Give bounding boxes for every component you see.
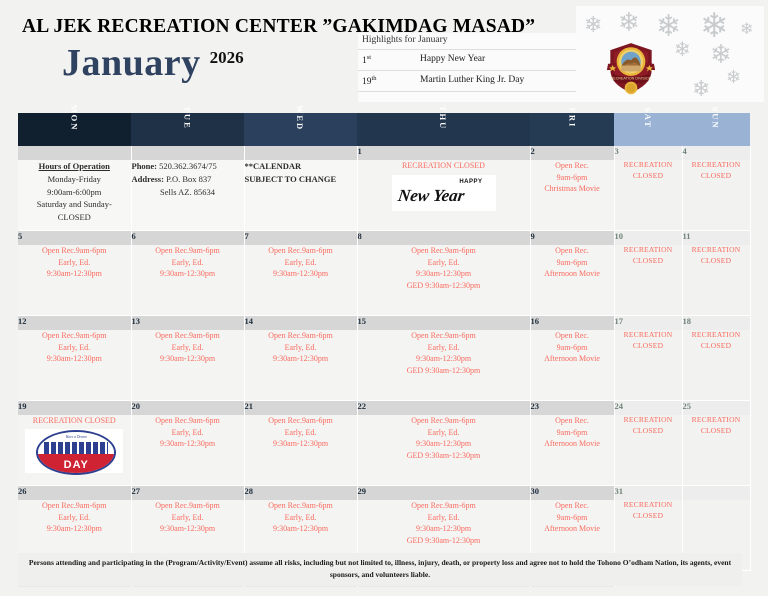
event-line: Open Rec. [531, 415, 614, 427]
highlight-row-empty [358, 91, 576, 102]
event-line: CLOSED [683, 341, 750, 352]
snowflake-icon: ❄ [692, 78, 710, 100]
date-number-9: 9 [530, 231, 614, 246]
day-cell-1[interactable]: RECREATION CLOSEDNew YearHAPPY [357, 160, 530, 231]
snowflake-icon: ❄ [710, 42, 732, 68]
day-cell-16[interactable]: Open Rec.9am-6pmAfternoon Movie [530, 330, 614, 401]
day-header-tue: TUE [131, 113, 244, 146]
highlight-label: Happy New Year [420, 54, 572, 66]
day-header-mon: MON [18, 113, 131, 146]
date-number-11: 11 [682, 231, 750, 246]
event-line: Open Rec.9am-6pm [245, 330, 357, 342]
day-cell-18[interactable]: RECREATIONCLOSED [682, 330, 750, 401]
event-line: Early, Ed. [245, 427, 357, 439]
event-line: GED 9:30am-12:30pm [358, 280, 530, 292]
mlk-top: Have a Dream [38, 432, 114, 452]
address-line: Address: P.O. Box 837 [132, 173, 244, 186]
highlight-date: 1st [362, 54, 420, 66]
highlight-day-number: 19 [362, 77, 372, 87]
event-line: 9:30am-12:30pm [245, 438, 357, 450]
event-line: CLOSED [683, 171, 750, 182]
event-line: Open Rec.9am-6pm [132, 415, 244, 427]
date-number-empty [131, 146, 244, 160]
recreation-division-crest-icon: RECREATION DIVISION [602, 34, 660, 96]
event-line: Open Rec.9am-6pm [18, 330, 131, 342]
event-line: GED 9:30am-12:30pm [358, 450, 530, 462]
date-number-24: 24 [614, 401, 682, 416]
event-line: 9am-6pm [531, 512, 614, 524]
event-line: Open Rec. [531, 330, 614, 342]
event-line: 9:30am-12:30pm [358, 523, 530, 535]
event-line: 9:30am-12:30pm [132, 268, 244, 280]
event-line: Afternoon Movie [531, 523, 614, 535]
date-number-28: 28 [244, 486, 357, 501]
hours-line: CLOSED [18, 211, 131, 224]
day-header-sat: SAT [614, 113, 682, 146]
calendar-date-row: 567891011 [18, 231, 750, 246]
phone-value: 520.362.3674/75 [157, 161, 217, 171]
date-number-25: 25 [682, 401, 750, 416]
info-cell-notice: **CALENDARSUBJECT TO CHANGE [244, 160, 357, 231]
day-cell-17[interactable]: RECREATIONCLOSED [614, 330, 682, 401]
event-line: Open Rec.9am-6pm [132, 500, 244, 512]
mlk-day-text: DAY [38, 460, 114, 471]
phone-line: Phone: 520.362.3674/75 [132, 160, 244, 173]
mlk-oval: Have a DreamDAY [36, 430, 116, 475]
event-line: Open Rec.9am-6pm [358, 245, 530, 257]
date-number-31: 31 [614, 486, 682, 501]
date-number-26: 26 [18, 486, 131, 501]
date-number-29: 29 [357, 486, 530, 501]
day-cell-12[interactable]: Open Rec.9am-6pmEarly, Ed.9:30am-12:30pm [18, 330, 131, 401]
day-cell-10[interactable]: RECREATIONCLOSED [614, 245, 682, 316]
event-line: 9:30am-12:30pm [132, 523, 244, 535]
snowflake-icon: ❄ [700, 10, 729, 44]
date-number-1: 1 [357, 146, 530, 160]
calendar-date-row: 12131415161718 [18, 316, 750, 331]
event-line: 9am-6pm [531, 257, 614, 269]
new-year-main-text: New Year [396, 184, 466, 209]
date-number-15: 15 [357, 316, 530, 331]
highlights-title: Highlights for January [358, 33, 576, 49]
month-heading: January 2026 [62, 44, 244, 82]
date-number-18: 18 [682, 316, 750, 331]
event-line: Open Rec.9am-6pm [18, 245, 131, 257]
event-line: Early, Ed. [245, 342, 357, 354]
hours-title: Hours of Operation [18, 160, 131, 173]
event-line: 9:30am-12:30pm [245, 268, 357, 280]
date-number-7: 7 [244, 231, 357, 246]
event-line: 9:30am-12:30pm [358, 268, 530, 280]
date-number-8: 8 [357, 231, 530, 246]
event-line: CLOSED [683, 426, 750, 437]
event-line: 9:30am-12:30pm [358, 438, 530, 450]
event-line: RECREATION [615, 500, 682, 511]
mlk-small-text: Have a Dream [38, 435, 114, 440]
calendar-date-row: 19202122232425 [18, 401, 750, 416]
highlight-row: 19th Martin Luther King Jr. Day [358, 70, 576, 91]
day-cell-5[interactable]: Open Rec.9am-6pmEarly, Ed.9:30am-12:30pm [18, 245, 131, 316]
calendar-page: AL JEK RECREATION CENTER ”GAKIMDAG MASAD… [0, 0, 768, 596]
snowflake-icon: ❄ [740, 22, 753, 38]
day-header-fri: FRI [530, 113, 614, 146]
day-cell-4[interactable]: RECREATIONCLOSED [682, 160, 750, 231]
event-line: Open Rec.9am-6pm [18, 500, 131, 512]
phone-label: Phone: [132, 161, 158, 171]
day-cell-3[interactable]: RECREATIONCLOSED [614, 160, 682, 231]
date-number-13: 13 [131, 316, 244, 331]
event-line: RECREATION [683, 160, 750, 171]
event-line: Open Rec. [531, 245, 614, 257]
event-line: 9:30am-12:30pm [245, 523, 357, 535]
event-line: Early, Ed. [132, 427, 244, 439]
event-line: RECREATION [615, 415, 682, 426]
event-line: 9am-6pm [531, 342, 614, 354]
address-value: P.O. Box 837 [164, 174, 211, 184]
calendar-week-row: Open Rec.9am-6pmEarly, Ed.9:30am-12:30pm… [18, 245, 750, 316]
event-line: 9:30am-12:30pm [358, 353, 530, 365]
day-header-thu-label: THU [438, 106, 448, 130]
day-header-fri-label: FRI [567, 108, 577, 129]
date-number-empty [682, 486, 750, 501]
date-number-empty [244, 146, 357, 160]
address-line2: Sells AZ. 85634 [132, 186, 244, 199]
address-label: Address: [132, 174, 164, 184]
event-line: RECREATION [615, 330, 682, 341]
day-cell-7[interactable]: Open Rec.9am-6pmEarly, Ed.9:30am-12:30pm [244, 245, 357, 316]
event-line: Open Rec.9am-6pm [132, 330, 244, 342]
event-line: Open Rec.9am-6pm [358, 415, 530, 427]
date-number-20: 20 [131, 401, 244, 416]
date-number-17: 17 [614, 316, 682, 331]
day-header-thu: THU [357, 113, 530, 146]
event-line: RECREATION [683, 415, 750, 426]
date-number-23: 23 [530, 401, 614, 416]
day-cell-19[interactable]: RECREATION CLOSEDHave a DreamDAY [18, 415, 131, 486]
info-cell-hours: Hours of OperationMonday-Friday9:00am-6:… [18, 160, 131, 231]
event-line: 9am-6pm [531, 172, 614, 184]
event-line: RECREATION CLOSED [18, 415, 131, 427]
date-number-12: 12 [18, 316, 131, 331]
event-line: Christmas Movie [531, 183, 614, 195]
event-line: 9:30am-12:30pm [245, 353, 357, 365]
date-number-30: 30 [530, 486, 614, 501]
day-cell-8[interactable]: Open Rec.9am-6pmEarly, Ed.9:30am-12:30pm… [357, 245, 530, 316]
day-header-wed-label: WED [296, 105, 306, 131]
hours-line: 9:00am-6:00pm [18, 186, 131, 199]
event-line: RECREATION [683, 245, 750, 256]
day-cell-15[interactable]: Open Rec.9am-6pmEarly, Ed.9:30am-12:30pm… [357, 330, 530, 401]
new-year-happy-text: HAPPY [459, 178, 482, 187]
event-line: Open Rec.9am-6pm [245, 415, 357, 427]
day-cell-6[interactable]: Open Rec.9am-6pmEarly, Ed.9:30am-12:30pm [131, 245, 244, 316]
calendar-date-row: 262728293031 [18, 486, 750, 501]
mlk-day-image: Have a DreamDAY [25, 429, 123, 473]
day-header-tue-label: TUE [182, 106, 192, 129]
highlight-day-suffix: st [367, 54, 371, 61]
event-line: 9:30am-12:30pm [18, 353, 131, 365]
date-number-10: 10 [614, 231, 682, 246]
date-number-5: 5 [18, 231, 131, 246]
day-cell-14[interactable]: Open Rec.9am-6pmEarly, Ed.9:30am-12:30pm [244, 330, 357, 401]
date-number-6: 6 [131, 231, 244, 246]
calendar-grid: MON TUE WED THU FRI SAT SUN 1234Hours of… [18, 113, 751, 587]
event-line: Early, Ed. [18, 257, 131, 269]
event-line: Early, Ed. [245, 257, 357, 269]
event-line: Open Rec. [531, 160, 614, 172]
day-of-week-header-row: MON TUE WED THU FRI SAT SUN [18, 113, 750, 146]
mlk-stripes [44, 442, 108, 454]
highlight-label: Martin Luther King Jr. Day [420, 75, 572, 87]
day-cell-2[interactable]: Open Rec.9am-6pmChristmas Movie [530, 160, 614, 231]
day-cell-13[interactable]: Open Rec.9am-6pmEarly, Ed.9:30am-12:30pm [131, 330, 244, 401]
snowflake-icon: ❄ [726, 68, 741, 86]
event-line: RECREATION [683, 330, 750, 341]
info-cell-contact: Phone: 520.362.3674/75Address: P.O. Box … [131, 160, 244, 231]
event-line: Early, Ed. [132, 342, 244, 354]
day-header-sat-label: SAT [643, 107, 653, 129]
snowflake-icon: ❄ [674, 40, 691, 60]
event-line: CLOSED [615, 426, 682, 437]
snowflake-icon: ❄ [584, 14, 602, 36]
event-line: CLOSED [683, 256, 750, 267]
day-cell-20[interactable]: Open Rec.9am-6pmEarly, Ed.9:30am-12:30pm [131, 415, 244, 486]
month-name: January [62, 44, 201, 82]
event-line: Open Rec. [531, 500, 614, 512]
event-line: RECREATION [615, 160, 682, 171]
event-line: Early, Ed. [18, 342, 131, 354]
event-line: Afternoon Movie [531, 438, 614, 450]
hours-line: Saturday and Sunday- [18, 198, 131, 211]
event-line: CLOSED [615, 171, 682, 182]
event-line: Open Rec.9am-6pm [358, 500, 530, 512]
day-header-wed: WED [244, 113, 357, 146]
event-line: Open Rec.9am-6pm [358, 330, 530, 342]
event-line: 9:30am-12:30pm [18, 268, 131, 280]
day-cell-21[interactable]: Open Rec.9am-6pmEarly, Ed.9:30am-12:30pm [244, 415, 357, 486]
day-header-sun: SUN [682, 113, 750, 146]
event-line: Early, Ed. [132, 257, 244, 269]
event-line: Afternoon Movie [531, 353, 614, 365]
date-number-27: 27 [131, 486, 244, 501]
event-line: 9:30am-12:30pm [132, 353, 244, 365]
event-line: Open Rec.9am-6pm [132, 245, 244, 257]
happy-new-year-image: New YearHAPPY [392, 175, 496, 211]
event-line: CLOSED [615, 256, 682, 267]
svg-text:RECREATION DIVISION: RECREATION DIVISION [611, 76, 652, 80]
event-line: CLOSED [615, 341, 682, 352]
highlight-day-suffix: th [372, 75, 377, 82]
day-cell-22[interactable]: Open Rec.9am-6pmEarly, Ed.9:30am-12:30pm… [357, 415, 530, 486]
highlight-row: 1st Happy New Year [358, 49, 576, 70]
event-line: Early, Ed. [245, 512, 357, 524]
event-line: 9am-6pm [531, 427, 614, 439]
day-header-sun-label: SUN [711, 106, 721, 129]
event-line: 9:30am-12:30pm [132, 438, 244, 450]
event-line: Early, Ed. [358, 512, 530, 524]
calendar-week-row: Hours of OperationMonday-Friday9:00am-6:… [18, 160, 750, 231]
date-number-22: 22 [357, 401, 530, 416]
highlight-date: 19th [362, 75, 420, 87]
day-cell-9[interactable]: Open Rec.9am-6pmAfternoon Movie [530, 245, 614, 316]
event-line: GED 9:30am-12:30pm [358, 365, 530, 377]
day-cell-24[interactable]: RECREATIONCLOSED [614, 415, 682, 486]
disclaimer-text: Persons attending and participating in t… [18, 553, 742, 586]
day-cell-11[interactable]: RECREATIONCLOSED [682, 245, 750, 316]
date-number-19: 19 [18, 401, 131, 416]
day-cell-25[interactable]: RECREATIONCLOSED [682, 415, 750, 486]
calendar-week-row: Open Rec.9am-6pmEarly, Ed.9:30am-12:30pm… [18, 330, 750, 401]
event-line: Early, Ed. [18, 512, 131, 524]
notice-line: SUBJECT TO CHANGE [245, 173, 357, 186]
date-number-3: 3 [614, 146, 682, 160]
event-line: RECREATION [615, 245, 682, 256]
event-line: Early, Ed. [358, 257, 530, 269]
event-line: Early, Ed. [132, 512, 244, 524]
calendar-date-row: 1234 [18, 146, 750, 160]
snowflake-banner: ❄ ❄ ❄ ❄ ❄ ❄ ❄ ❄ ❄ R [576, 6, 764, 102]
snowflake-icon: ❄ [618, 10, 640, 36]
date-number-16: 16 [530, 316, 614, 331]
date-number-14: 14 [244, 316, 357, 331]
event-line: 9:30am-12:30pm [18, 523, 131, 535]
date-number-empty [18, 146, 131, 160]
event-line: RECREATION CLOSED [358, 160, 530, 172]
month-year: 2026 [210, 48, 244, 68]
day-cell-23[interactable]: Open Rec.9am-6pmAfternoon Movie [530, 415, 614, 486]
event-line: GED 9:30am-12:30pm [358, 535, 530, 547]
notice-line: **CALENDAR [245, 160, 357, 173]
event-line: Early, Ed. [358, 342, 530, 354]
event-line: Early, Ed. [358, 427, 530, 439]
event-line: Open Rec.9am-6pm [245, 245, 357, 257]
event-line: Afternoon Movie [531, 268, 614, 280]
event-line: CLOSED [615, 511, 682, 522]
date-number-4: 4 [682, 146, 750, 160]
page-header: AL JEK RECREATION CENTER ”GAKIMDAG MASAD… [0, 0, 768, 110]
date-number-21: 21 [244, 401, 357, 416]
highlights-panel: Highlights for January 1st Happy New Yea… [358, 33, 576, 102]
date-number-2: 2 [530, 146, 614, 160]
event-line: Open Rec.9am-6pm [245, 500, 357, 512]
hours-line: Monday-Friday [18, 173, 131, 186]
day-header-mon-label: MON [70, 105, 80, 132]
calendar-week-row: RECREATION CLOSEDHave a DreamDAYOpen Rec… [18, 415, 750, 486]
